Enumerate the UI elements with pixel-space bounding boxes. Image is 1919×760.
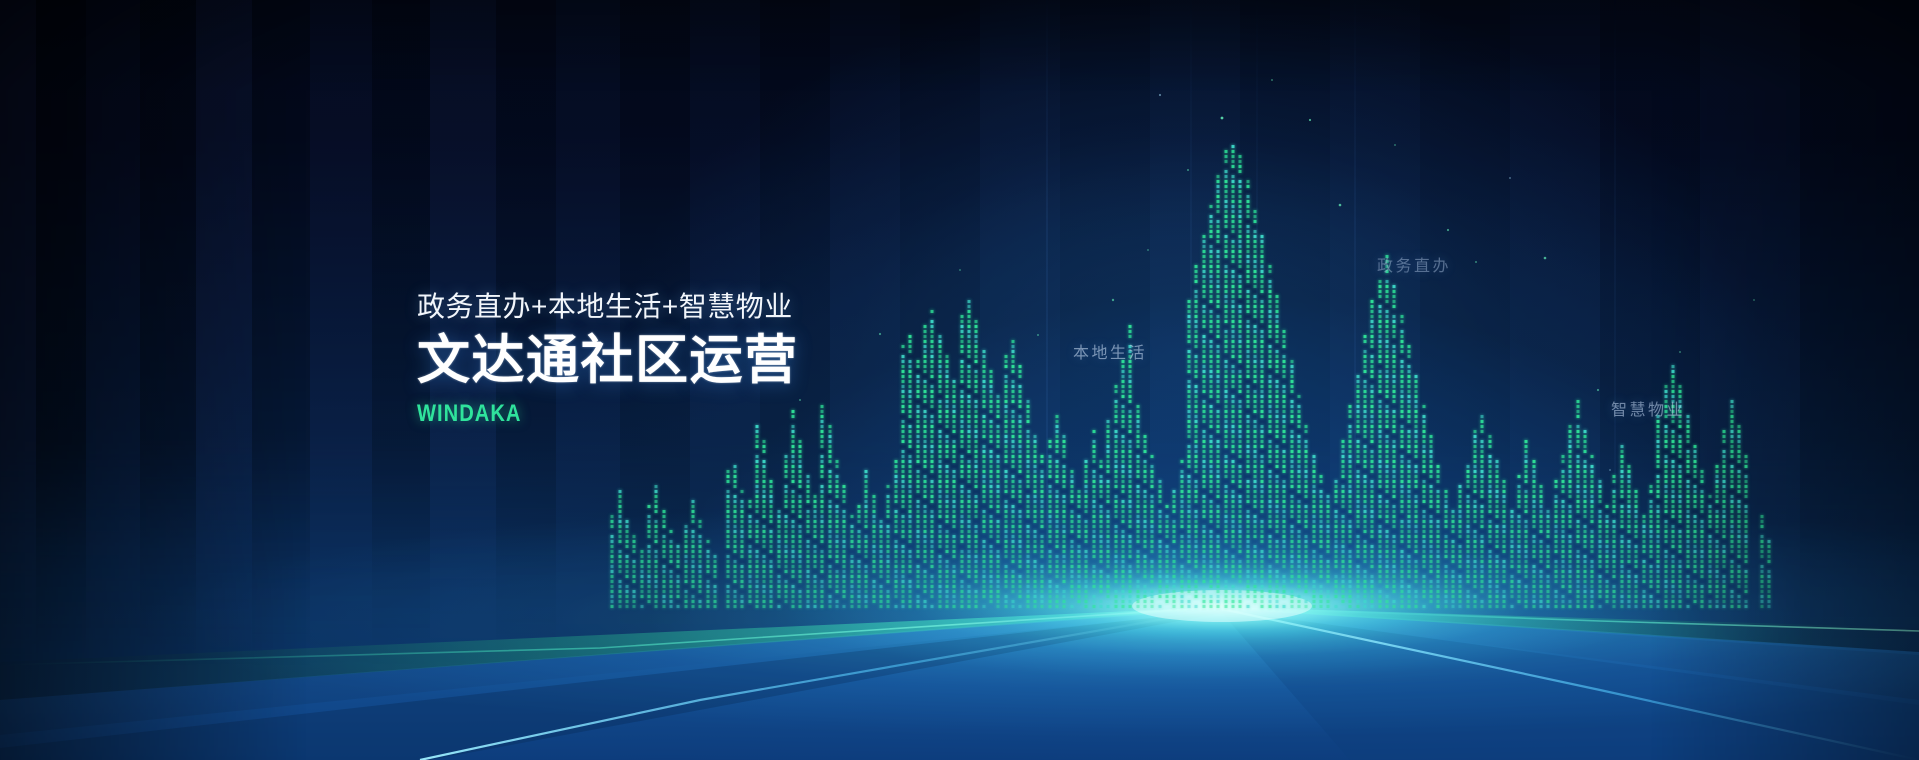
- hero-subtitle: 政务直办+本地生活+智慧物业: [417, 289, 799, 324]
- skyline-label-government-service: 政务直办: [1377, 252, 1451, 276]
- hero-copy-block: 政务直办+本地生活+智慧物业 文达通社区运营 WINDAKA: [417, 289, 799, 428]
- hero-banner: 本地生活 政务直办 智慧物业 政务直办+本地生活+智慧物业 文达通社区运营 WI…: [0, 0, 1919, 760]
- brand-wordmark: WINDAKA: [417, 400, 737, 428]
- horizon-glow: [0, 0, 1919, 760]
- hero-title: 文达通社区运营: [417, 330, 799, 393]
- skyline-label-local-life: 本地生活: [1073, 339, 1147, 363]
- skyline-label-smart-property: 智慧物业: [1611, 396, 1685, 420]
